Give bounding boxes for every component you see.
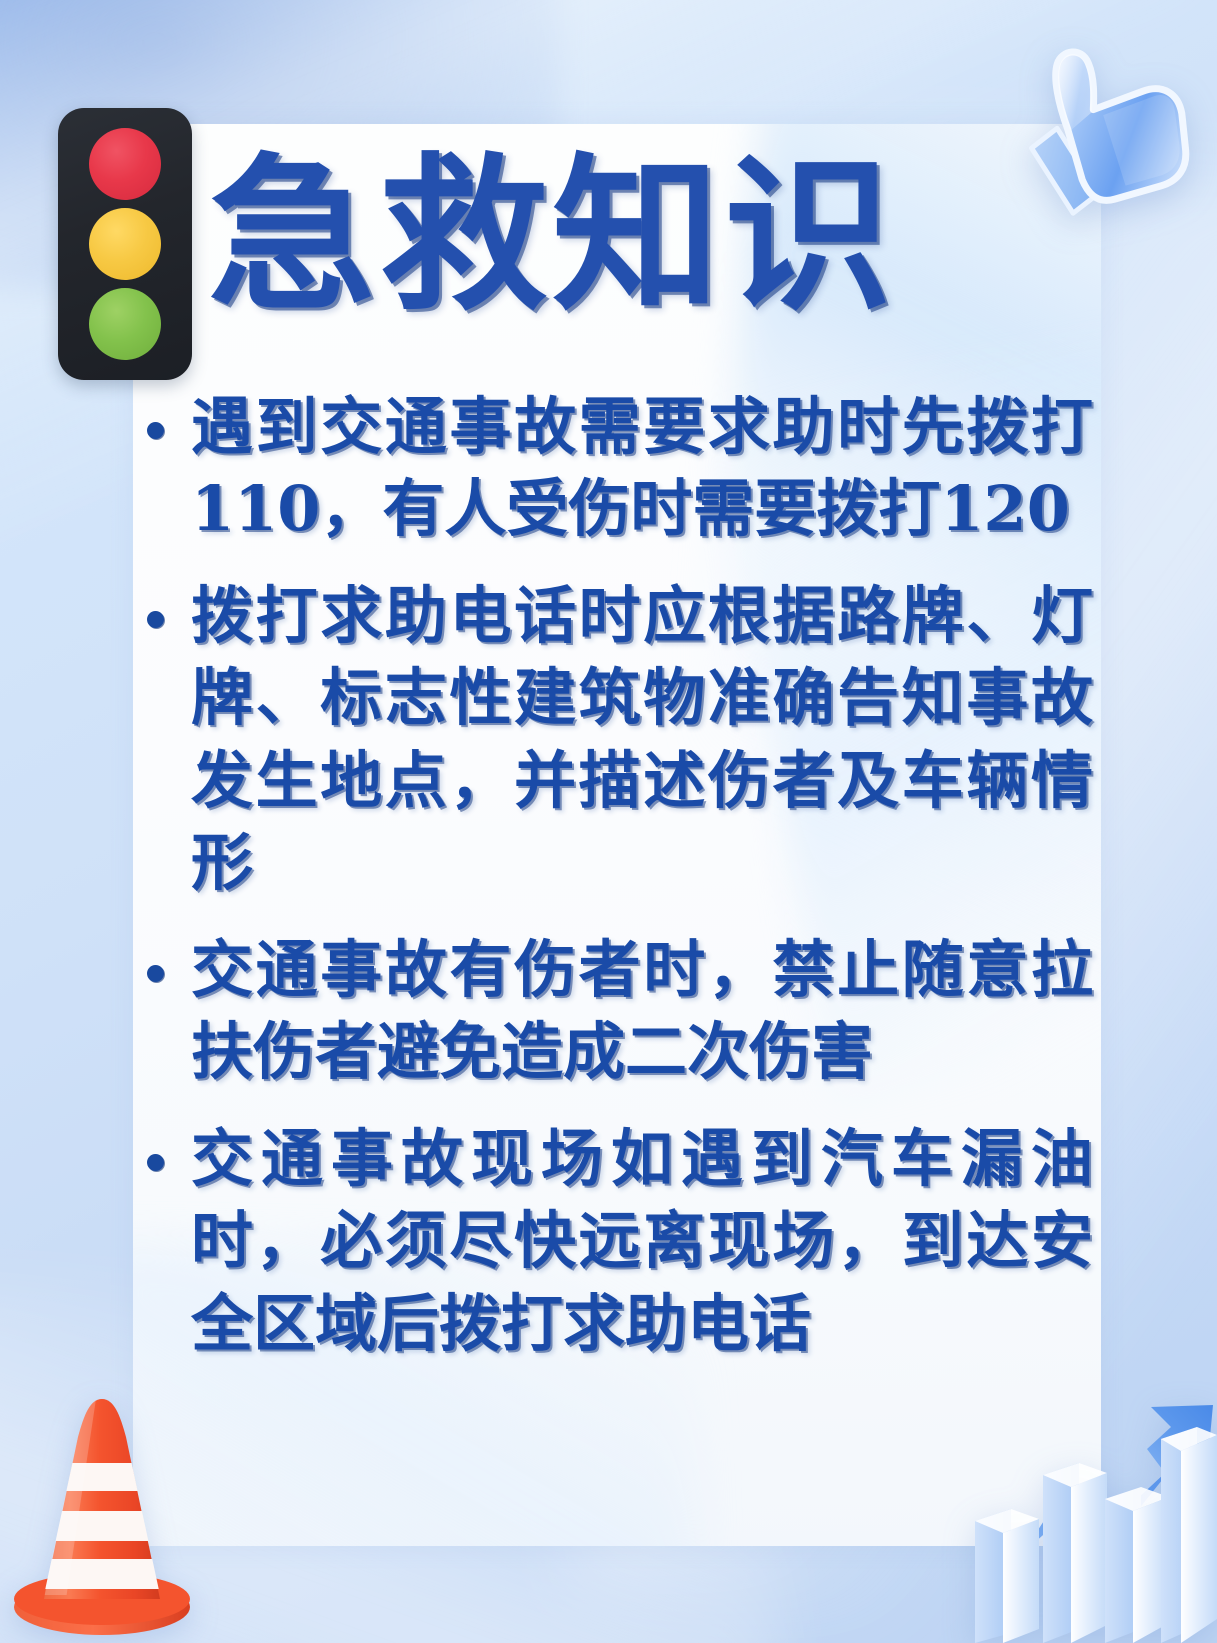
list-item: 交通事故现场如遇到汽车漏油时，必须尽快远离现场，到达安全区域后拨打求助电话 xyxy=(133,1118,1093,1365)
thumbs-up-icon xyxy=(1009,18,1209,233)
page-title: 急救知识 xyxy=(208,148,896,324)
traffic-light-green-lamp xyxy=(89,288,161,360)
traffic-light-icon xyxy=(58,108,192,380)
traffic-cone-icon xyxy=(4,1371,200,1643)
poster-root: 急救知识 遇到交通事故需要求助时先拨打110，有人受伤时需要拨打120 拨打求助… xyxy=(0,0,1217,1643)
list-item: 遇到交通事故需要求助时先拨打110，有人受伤时需要拨打120 xyxy=(133,386,1093,551)
tips-list: 遇到交通事故需要求助时先拨打110，有人受伤时需要拨打120 拨打求助电话时应根… xyxy=(133,386,1093,1389)
growth-chart-icon xyxy=(965,1343,1217,1643)
list-item: 拨打求助电话时应根据路牌、灯牌、标志性建筑物准确告知事故发生地点，并描述伤者及车… xyxy=(133,575,1093,905)
list-item: 交通事故有伤者时，禁止随意拉扶伤者避免造成二次伤害 xyxy=(133,929,1093,1094)
traffic-light-red-lamp xyxy=(89,128,161,200)
traffic-light-yellow-lamp xyxy=(89,208,161,280)
